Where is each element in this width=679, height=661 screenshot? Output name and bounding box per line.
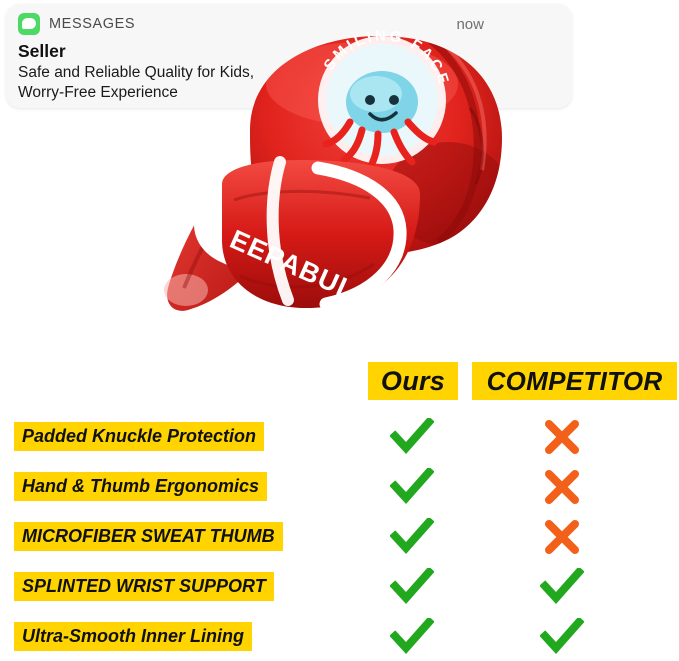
header-competitor: COMPETITOR (472, 362, 677, 400)
header-ours: Ours (368, 362, 458, 400)
ours-check-icon (390, 468, 434, 506)
feature-label: SPLINTED WRIST SUPPORT (14, 572, 274, 601)
feature-label: Ultra-Smooth Inner Lining (14, 622, 252, 651)
feature-label: MICROFIBER SWEAT THUMB (14, 522, 283, 551)
table-row: Hand & Thumb Ergonomics (0, 472, 679, 506)
competitor-cross-icon (540, 418, 584, 456)
competitor-cross-icon (540, 468, 584, 506)
competitor-cross-icon (540, 518, 584, 556)
ours-check-icon (390, 518, 434, 556)
ours-check-icon (390, 618, 434, 656)
comparison-table: Ours COMPETITOR Padded Knuckle Protectio… (0, 350, 679, 660)
ours-check-icon (390, 568, 434, 606)
product-photo: SMILING FACE EEPABUL (130, 18, 550, 338)
competitor-check-icon (540, 568, 584, 606)
messages-icon (18, 13, 40, 35)
table-row: Ultra-Smooth Inner Lining (0, 622, 679, 656)
table-row: SPLINTED WRIST SUPPORT (0, 572, 679, 606)
table-row: Padded Knuckle Protection (0, 422, 679, 456)
notification-app-label: MESSAGES (49, 16, 135, 32)
feature-label: Padded Knuckle Protection (14, 422, 264, 451)
table-row: MICROFIBER SWEAT THUMB (0, 522, 679, 556)
ours-check-icon (390, 418, 434, 456)
feature-label: Hand & Thumb Ergonomics (14, 472, 267, 501)
competitor-check-icon (540, 618, 584, 656)
